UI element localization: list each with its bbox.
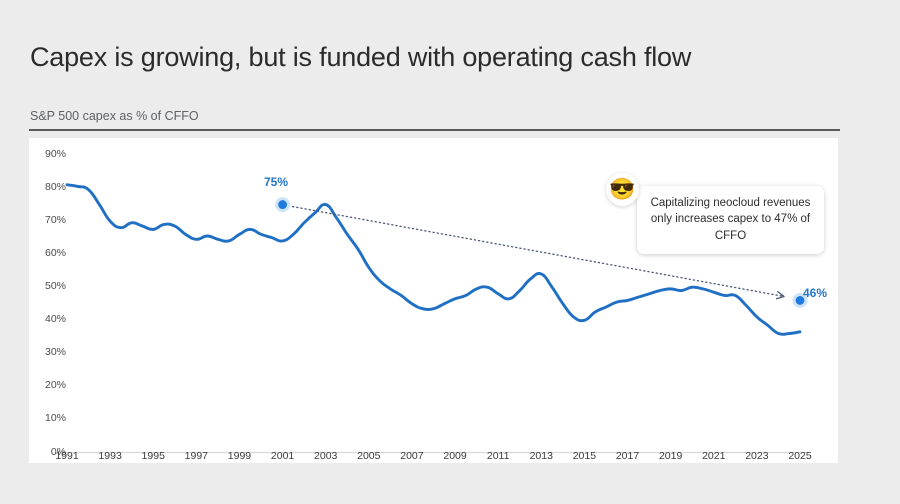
y-tick-label: 90% <box>34 148 66 160</box>
y-tick-label: 80% <box>34 181 66 193</box>
y-tick-label: 40% <box>34 313 66 325</box>
x-tick-label: 2001 <box>263 450 303 462</box>
annotation-callout: Capitalizing neocloud revenues only incr… <box>637 186 824 254</box>
x-tick-label: 2019 <box>651 450 691 462</box>
page-title: Capex is growing, but is funded with ope… <box>30 42 691 73</box>
x-tick-label: 2023 <box>737 450 777 462</box>
slide-canvas: Capex is growing, but is funded with ope… <box>0 0 900 504</box>
y-tick-label: 10% <box>34 412 66 424</box>
y-tick-label: 70% <box>34 214 66 226</box>
sunglasses-emoji-icon: 😎 <box>606 173 639 206</box>
x-tick-label: 2013 <box>521 450 561 462</box>
x-tick-label: 1999 <box>219 450 259 462</box>
x-tick-label: 2017 <box>608 450 648 462</box>
x-tick-label: 2015 <box>564 450 604 462</box>
header-divider <box>29 129 840 131</box>
x-tick-label: 2011 <box>478 450 518 462</box>
x-tick-label: 2005 <box>349 450 389 462</box>
y-tick-label: 50% <box>34 280 66 292</box>
x-tick-label: 1993 <box>90 450 130 462</box>
y-tick-label: 30% <box>34 346 66 358</box>
x-tick-label: 1997 <box>176 450 216 462</box>
chart-subtitle: S&P 500 capex as % of CFFO <box>30 109 199 123</box>
end-value-label: 46% <box>803 286 827 300</box>
x-tick-label: 2003 <box>306 450 346 462</box>
x-tick-label: 1995 <box>133 450 173 462</box>
y-tick-label: 20% <box>34 379 66 391</box>
x-tick-label: 2009 <box>435 450 475 462</box>
y-tick-label: 60% <box>34 247 66 259</box>
x-tick-label: 2025 <box>780 450 820 462</box>
x-tick-label: 1991 <box>47 450 87 462</box>
x-tick-label: 2021 <box>694 450 734 462</box>
peak-value-label: 75% <box>264 175 288 189</box>
x-tick-label: 2007 <box>392 450 432 462</box>
